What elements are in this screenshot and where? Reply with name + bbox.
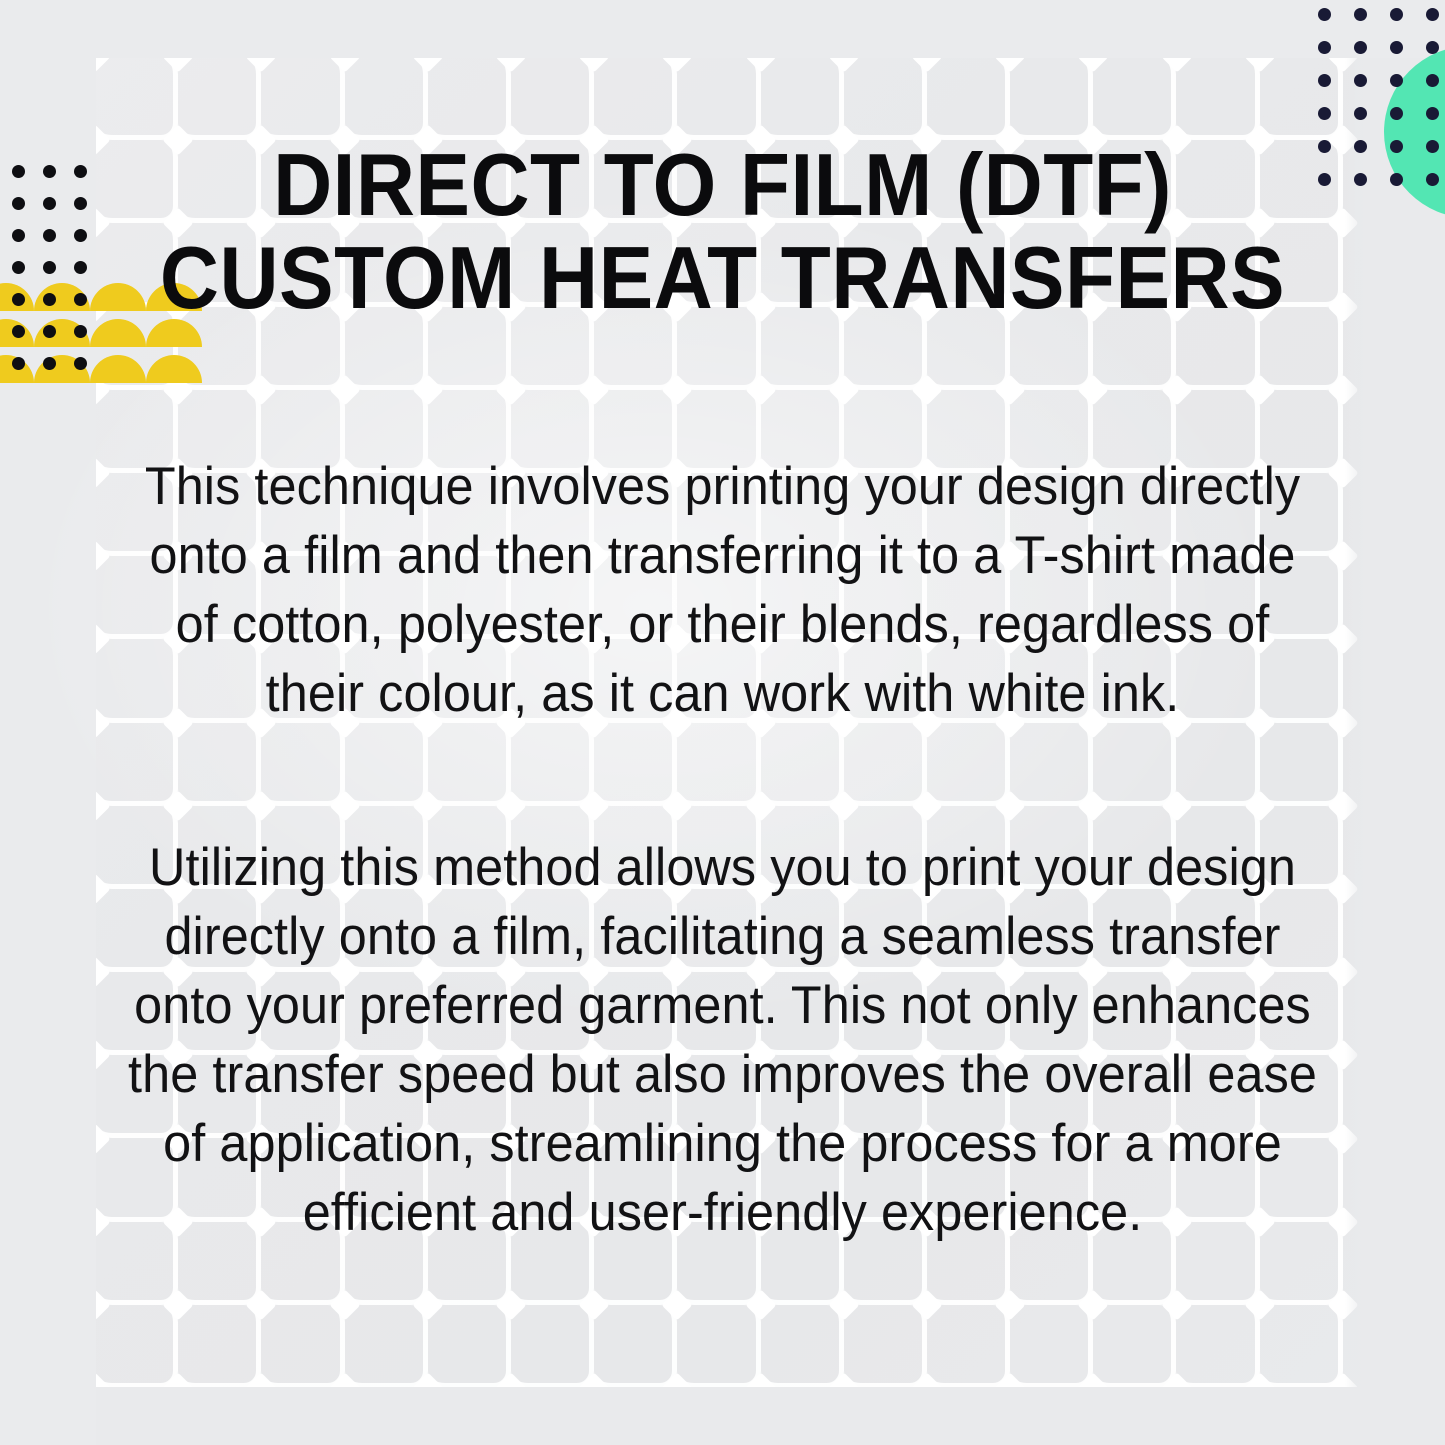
body-copy: This technique involves printing your de… xyxy=(95,452,1350,1247)
title-line-2: CUSTOM HEAT TRANSFERS xyxy=(153,231,1292,324)
body-paragraph-1: This technique involves printing your de… xyxy=(126,452,1318,728)
poster-canvas: DIRECT TO FILM (DTF) CUSTOM HEAT TRANSFE… xyxy=(0,0,1445,1445)
title-line-1: DIRECT TO FILM (DTF) xyxy=(153,138,1292,231)
content-layer: DIRECT TO FILM (DTF) CUSTOM HEAT TRANSFE… xyxy=(0,0,1445,1445)
body-paragraph-2: Utilizing this method allows you to prin… xyxy=(126,833,1318,1247)
page-title: DIRECT TO FILM (DTF) CUSTOM HEAT TRANSFE… xyxy=(110,138,1335,324)
